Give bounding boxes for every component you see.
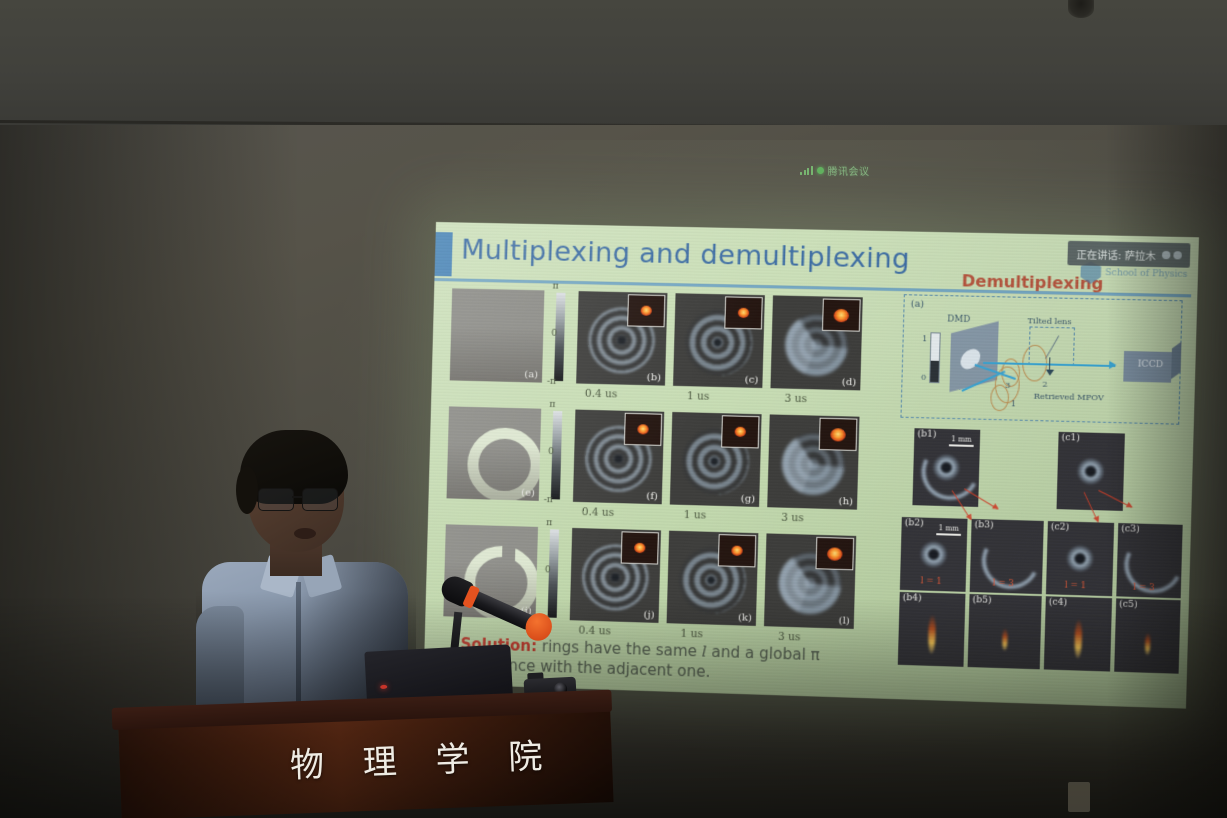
meeting-app-label: 腾讯会议	[828, 163, 870, 178]
speckle-panel: (j)	[570, 528, 661, 623]
ceiling-fixture-icon	[1068, 0, 1094, 18]
speckle-panel: (g)	[670, 412, 762, 507]
speckle-panel: (f)	[573, 410, 664, 505]
colorbar-mid-label: 0	[551, 329, 557, 339]
panel-label: (j)	[643, 609, 654, 620]
inset-spot	[621, 531, 659, 564]
slider-low-label: 0	[921, 373, 926, 382]
retrieved-mpov-label: Retrieved MPOV	[1034, 392, 1104, 403]
iccd-label: ICCD	[1138, 359, 1164, 370]
result-panel: (b3) l = 3	[970, 519, 1044, 594]
mask-panel: (e)	[447, 406, 542, 501]
optical-setup-diagram: (a) 1 0 DMD 1 2 3 Tilted lens	[900, 294, 1182, 425]
result-panel: (c5)	[1114, 598, 1180, 673]
vortex-spot	[920, 541, 947, 568]
lecture-hall-photo: 腾讯会议 Multiplexing and demultiplexing 正在讲…	[0, 0, 1227, 818]
ceiling	[0, 0, 1227, 128]
power-led-icon	[380, 685, 387, 689]
panel-label: (g)	[741, 493, 756, 504]
panel-label: (a)	[524, 369, 538, 380]
avatar-group	[1162, 251, 1182, 260]
result-panel: (c4)	[1044, 596, 1112, 671]
podium-sign-text: 物 理 学 院	[289, 728, 557, 787]
colorbar-mid-label: 0	[548, 447, 554, 457]
slider-high-label: 1	[922, 334, 927, 343]
signal-bars-icon	[800, 166, 813, 175]
speckle-panel: (h)	[767, 414, 859, 509]
tencent-meeting-indicator: 腾讯会议	[800, 163, 870, 178]
grid-row: (e) π 0 -π (f) (g)	[446, 406, 884, 526]
podium: 物 理 学 院	[112, 708, 612, 818]
panel-label: (c5)	[1119, 599, 1138, 610]
mode-label: l = 3	[992, 578, 1014, 589]
scale-label: 1 mm	[936, 524, 961, 533]
demux-results-grid: (b1) 1 mm (c1) (b2)	[898, 428, 1185, 676]
inset-spot	[819, 418, 858, 451]
slide-title: Multiplexing and demultiplexing	[461, 235, 911, 276]
result-panel: (c3) l = 3	[1116, 523, 1182, 598]
conclusion-line2: and a global π	[706, 643, 820, 665]
panel-label: (b3)	[974, 520, 993, 531]
panel-label: (c4)	[1049, 597, 1068, 608]
grid-row: (i) π 0 -π (j) (k)	[443, 524, 881, 646]
panel-label: (d)	[842, 377, 857, 388]
setup-label: (a)	[911, 298, 925, 309]
time-label: 0.4 us	[578, 624, 611, 637]
glasses-icon	[258, 488, 342, 510]
intensity-streak	[1002, 629, 1008, 651]
panel-label: (l)	[838, 615, 850, 626]
panel-label: (b1)	[917, 429, 936, 440]
colorbar-bottom-label: -π	[547, 377, 556, 387]
panel-label: (f)	[646, 491, 658, 502]
time-label: 3 us	[781, 512, 804, 525]
time-label: 1 us	[684, 509, 707, 522]
result-panel: (b5)	[968, 594, 1042, 669]
panel-label: (h)	[838, 496, 853, 508]
time-label: 3 us	[778, 631, 801, 644]
panel-label: (b2)	[905, 518, 924, 529]
vortex-spot	[1066, 545, 1094, 572]
order-3-label: 3	[1005, 381, 1011, 390]
colorbar-top-label: π	[546, 518, 552, 528]
tilted-lens-icon	[1028, 326, 1075, 366]
speckle-panel: (d)	[770, 295, 862, 390]
order-2-label: 2	[1042, 380, 1048, 389]
mode-label: l = 1	[1065, 581, 1087, 592]
inset-spot	[815, 537, 854, 570]
mask-panel: (a)	[450, 288, 545, 382]
grayscale-slider-icon	[929, 332, 941, 383]
inset-spot	[721, 415, 759, 448]
speckle-panel: (c)	[673, 293, 765, 388]
intensity-streak	[1144, 633, 1150, 656]
panel-label: (c2)	[1051, 522, 1070, 533]
inset-spot	[724, 296, 762, 329]
panel-label: (b4)	[903, 593, 922, 604]
tilted-lens-label: Tilted lens	[1027, 316, 1071, 326]
mode-label: l = 1	[920, 576, 941, 587]
panel-label: (k)	[738, 612, 752, 624]
panel-label: (c1)	[1061, 433, 1080, 444]
time-label: 1 us	[687, 390, 710, 403]
order-1-label: 1	[1011, 399, 1017, 408]
intensity-streak	[927, 615, 935, 654]
presenter-mouth	[294, 528, 316, 539]
panel-label: (c)	[745, 374, 759, 385]
speckle-panel: (b)	[576, 291, 667, 385]
intensity-streak	[1074, 619, 1082, 658]
time-label: 1 us	[680, 628, 703, 641]
result-panel: (c2) l = 1	[1046, 521, 1114, 596]
time-label: 0.4 us	[582, 506, 615, 519]
panel-label: (b)	[647, 372, 662, 383]
panel-label: (e)	[521, 487, 535, 498]
title-accent-bar	[435, 232, 453, 276]
logo-label: School of Physics	[1105, 268, 1188, 280]
vortex-spot	[1077, 458, 1105, 485]
colorbar-top-label: π	[552, 282, 558, 292]
speaking-overlay: 正在讲话: 萨拉木	[1068, 241, 1191, 268]
dmd-label: DMD	[947, 314, 970, 325]
colorbar-top-label: π	[549, 400, 555, 410]
result-panel: (b1) 1 mm	[912, 428, 980, 507]
result-panel: (b4)	[898, 592, 966, 667]
panel-label: (c3)	[1121, 524, 1140, 535]
beam-arrow-icon	[1109, 361, 1116, 369]
speckle-panel: (l)	[764, 533, 856, 629]
inset-spot	[718, 534, 756, 567]
time-label: 3 us	[784, 393, 807, 406]
speaking-label: 正在讲话: 萨拉木	[1076, 246, 1156, 263]
wall-socket	[1068, 782, 1090, 812]
panel-label: (b5)	[972, 595, 991, 606]
demultiplexing-section: Demultiplexing (a) 1 0 DMD 1 2 3 Tilted …	[891, 270, 1189, 684]
result-panel: (b2) 1 mm l = 1	[900, 517, 968, 592]
speckle-panel: (k)	[667, 531, 759, 626]
multiplexing-grid: (a) π 0 -π (b) (c)	[443, 288, 887, 642]
grid-row: (a) π 0 -π (b) (c)	[449, 288, 887, 407]
green-dot-icon	[817, 167, 824, 174]
mode-label: l = 3	[1133, 583, 1155, 594]
scale-bar: 1 mm	[936, 524, 961, 536]
inset-spot	[627, 294, 665, 327]
inset-spot	[624, 413, 662, 446]
colorbar-bottom-label: -π	[544, 495, 553, 505]
inset-spot	[822, 299, 861, 332]
time-label: 0.4 us	[585, 388, 618, 401]
colorbar-mid-label: 0	[545, 565, 551, 575]
beam-down-arrow-icon	[1049, 357, 1051, 371]
